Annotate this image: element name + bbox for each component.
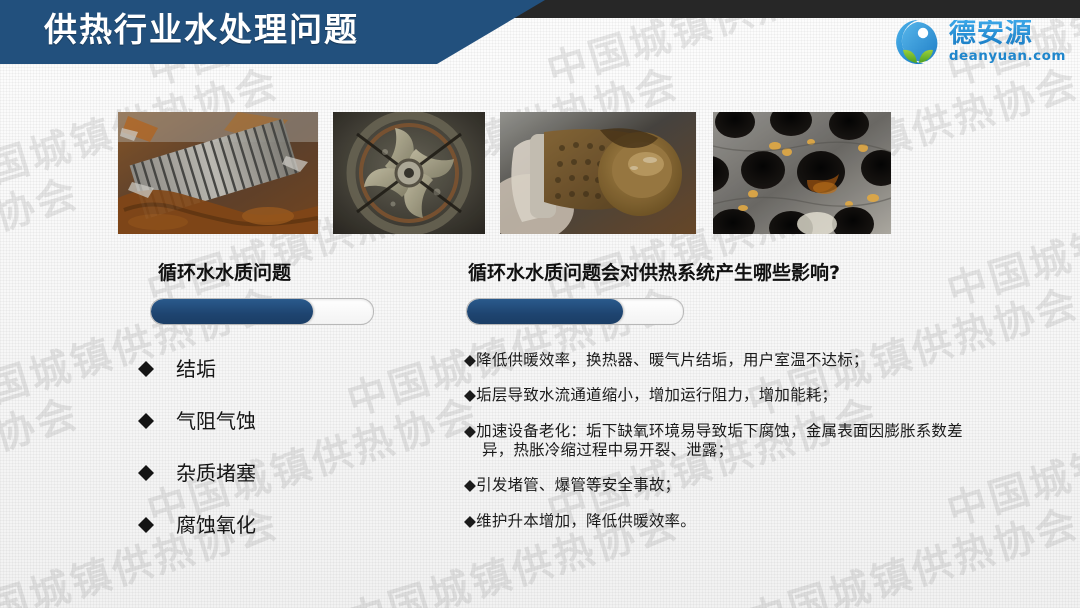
watermark-text: 中国城镇供热协会 — [139, 601, 485, 608]
photo-corroded-heat-exchanger-tubes — [118, 112, 318, 234]
photo-row — [0, 112, 1080, 234]
leaf-circle-logo-icon — [893, 17, 943, 67]
left-bullet-item: 气阻气蚀 — [138, 411, 448, 431]
right-progress-fill — [467, 299, 623, 324]
left-bullet-list: 结垢气阻气蚀杂质堵塞腐蚀氧化 — [138, 359, 448, 535]
right-bullet-list: ◆降低供暖效率，换热器、暖气片结垢，用户室温不达标；◆垢层导致水流通道缩小，增加… — [464, 351, 982, 531]
photo-scaled-pump-impeller — [333, 112, 485, 234]
left-column: 循环水水质问题 结垢气阻气蚀杂质堵塞腐蚀氧化 — [118, 262, 448, 567]
left-bullet-label: 气阻气蚀 — [176, 411, 256, 431]
right-section-heading: 循环水水质问题会对供热系统产生哪些影响? — [468, 262, 982, 285]
watermark-text: 中国城镇供热协会 — [539, 601, 885, 608]
left-bullet-label: 腐蚀氧化 — [176, 515, 256, 535]
diamond-bullet-icon — [138, 405, 154, 421]
company-logo: 德安源 deanyuan.com — [893, 17, 1066, 67]
left-bullet-item: 杂质堵塞 — [138, 463, 448, 483]
diamond-bullet-icon — [138, 509, 154, 525]
right-bullet-item: ◆垢层导致水流通道缩小，增加运行阻力，增加能耗； — [464, 386, 982, 405]
watermark-text: 中国城镇供热协会 — [0, 381, 85, 537]
watermark-text: 中国城镇供热协会 — [939, 601, 1080, 608]
right-progress-bar[interactable] — [466, 298, 684, 325]
right-bullet-item: ◆加速设备老化：垢下缺氧环境易导致垢下腐蚀，金属表面因膨胀系数差异，热胀冷缩过程… — [464, 422, 982, 459]
left-progress-fill — [151, 299, 313, 324]
logo-text: 德安源 deanyuan.com — [949, 20, 1066, 64]
watermark-text: 中国城镇供热协会 — [0, 601, 85, 608]
left-bullet-item: 结垢 — [138, 359, 448, 379]
page-title: 供热行业水处理问题 — [44, 8, 359, 52]
diamond-bullet-icon — [138, 457, 154, 473]
right-bullet-item: ◆降低供暖效率，换热器、暖气片结垢，用户室温不达标； — [464, 351, 982, 370]
slide-canvas: 中国城镇供热协会中国城镇供热协会中国城镇供热协会中国城镇供热协会中国城镇供热协会… — [0, 0, 1080, 608]
left-bullet-label: 杂质堵塞 — [176, 463, 256, 483]
photo-scaled-tube-sheet-holes — [713, 112, 891, 234]
diamond-bullet-icon — [138, 353, 154, 369]
photo-clogged-strainer-with-sludge — [500, 112, 696, 234]
left-section-heading: 循环水水质问题 — [158, 262, 448, 285]
title-banner: 供热行业水处理问题 — [0, 0, 600, 66]
right-bullet-item: ◆维护升本增加，降低供暖效率。 — [464, 512, 982, 531]
right-bullet-item: ◆引发堵管、爆管等安全事故； — [464, 476, 982, 495]
left-progress-bar[interactable] — [150, 298, 374, 325]
right-column: 循环水水质问题会对供热系统产生哪些影响? ◆降低供暖效率，换热器、暖气片结垢，用… — [462, 262, 982, 547]
logo-domain: deanyuan.com — [949, 50, 1066, 64]
left-bullet-item: 腐蚀氧化 — [138, 515, 448, 535]
logo-name-cn: 德安源 — [949, 20, 1066, 47]
left-bullet-label: 结垢 — [176, 359, 216, 379]
